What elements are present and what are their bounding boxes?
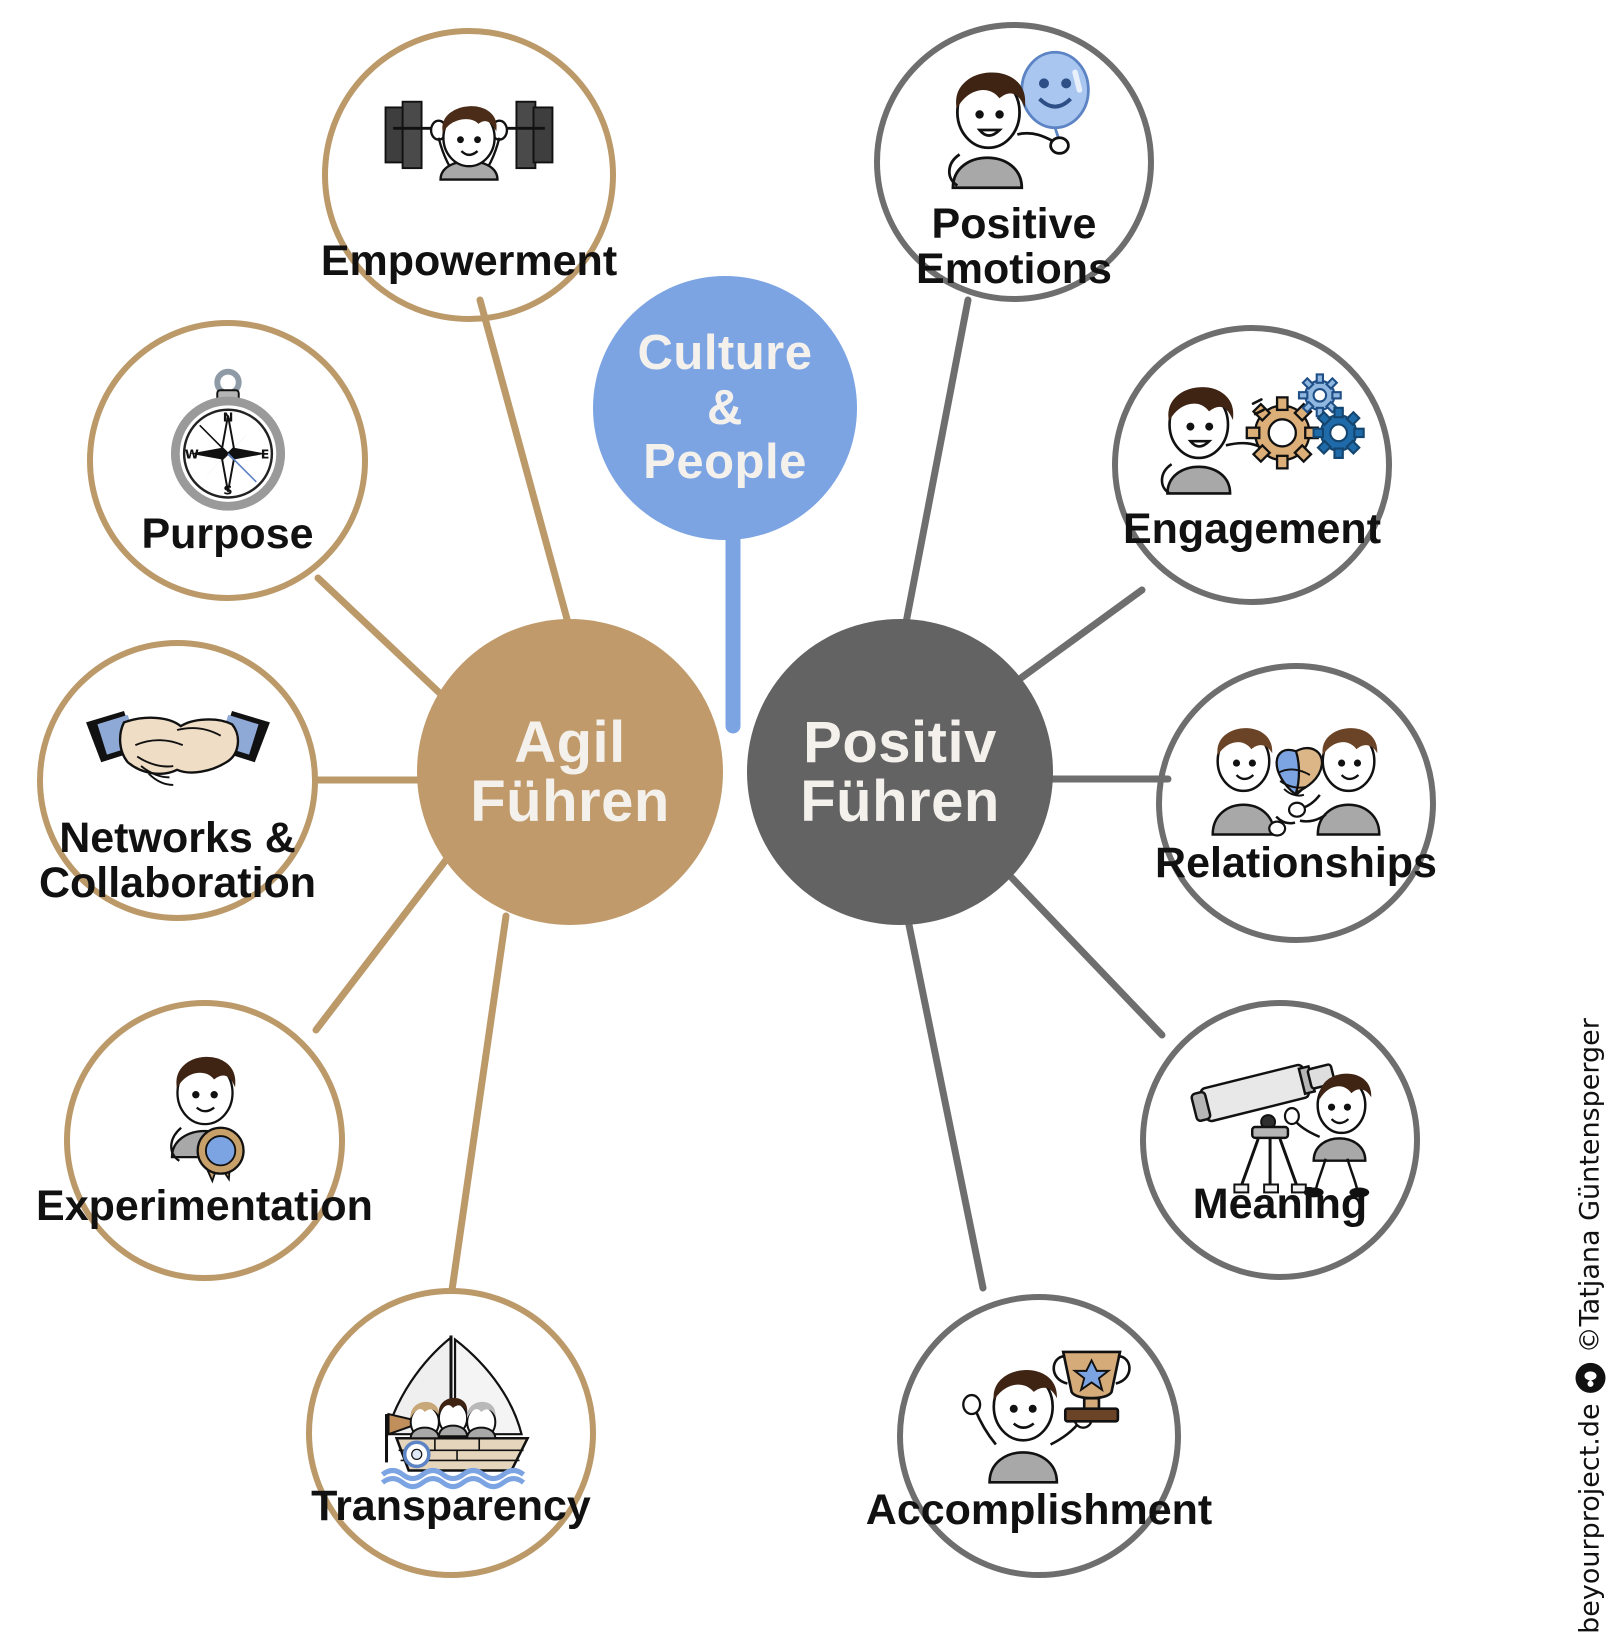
node-networks-collaboration-label: Networks & Collaboration: [39, 816, 316, 905]
watermark: beyourproject.de ©Tatjana Güntensperger: [1570, 1016, 1610, 1636]
person-with-smiley-balloon-icon: [915, 52, 1113, 207]
node-engagement[interactable]: Engagement: [1112, 325, 1392, 605]
connector-experimentation: [316, 860, 446, 1030]
watermark-copyright: ©Tatjana Güntensperger: [1575, 1018, 1606, 1353]
svg-text:W: W: [184, 446, 198, 461]
node-positive-emotions-line2: Emotions: [916, 245, 1112, 293]
person-lifting-barbell-icon: [365, 71, 574, 235]
node-empowerment[interactable]: Empowerment: [322, 28, 616, 322]
node-accomplishment[interactable]: Accomplishment: [897, 1294, 1181, 1578]
connector-accomplishment: [908, 920, 983, 1288]
hub-positiv-fuehren[interactable]: Positiv Führen: [747, 619, 1053, 925]
handshake-icon: [78, 670, 277, 826]
node-positive-emotions-line1: Positive: [932, 200, 1097, 248]
hub-positiv-line2: Führen: [800, 772, 1000, 831]
connector-purpose: [318, 578, 447, 700]
node-experimentation[interactable]: Experimentation: [64, 1000, 345, 1281]
node-purpose[interactable]: N S W E Purpose: [87, 320, 368, 601]
person-with-trophy-icon: [938, 1335, 1139, 1493]
svg-text:E: E: [260, 446, 269, 461]
node-meaning-label: Meaning: [1193, 1182, 1367, 1227]
node-positive-emotions[interactable]: Positive Emotions: [874, 22, 1154, 302]
node-transparency-label: Transparency: [311, 1484, 591, 1529]
person-with-telescope-icon: [1181, 1046, 1379, 1201]
hub-agil-line1: Agil: [470, 713, 670, 772]
node-networks-line2: Collaboration: [39, 859, 316, 907]
compass-icon: N S W E: [128, 361, 327, 517]
node-experimentation-label: Experimentation: [36, 1184, 373, 1229]
node-networks-line1: Networks &: [59, 814, 296, 862]
logo-mark-icon: [1575, 1363, 1605, 1393]
hub-culture-and-people[interactable]: Culture & People: [593, 276, 857, 540]
diagram-canvas: Agil Führen Positiv Führen Culture & Peo…: [0, 0, 1616, 1652]
node-purpose-label: Purpose: [141, 512, 313, 557]
node-engagement-label: Engagement: [1123, 507, 1381, 552]
node-relationships[interactable]: Relationships: [1156, 663, 1436, 943]
connector-meaning: [1012, 878, 1162, 1035]
svg-text:N: N: [222, 409, 233, 424]
sailboat-with-crew-icon: [348, 1327, 554, 1488]
watermark-site: beyourproject.de: [1575, 1403, 1606, 1634]
node-relationships-label: Relationships: [1155, 841, 1437, 886]
connector-empowerment: [480, 300, 570, 630]
hub-culture-line2: &: [638, 381, 813, 436]
node-meaning[interactable]: Meaning: [1140, 1000, 1420, 1280]
node-networks-collaboration[interactable]: Networks & Collaboration: [37, 640, 318, 921]
connector-transparency: [452, 916, 506, 1290]
hub-positiv-line1: Positiv: [800, 713, 1000, 772]
hub-culture-line1: Culture: [638, 326, 813, 381]
two-people-heart-handshake-icon: [1197, 698, 1395, 853]
person-with-award-rosette-icon: [105, 1036, 304, 1192]
person-turning-gears-icon: [1153, 358, 1351, 513]
node-transparency[interactable]: Transparency: [306, 1288, 596, 1578]
svg-text:S: S: [223, 483, 232, 498]
node-positive-emotions-label: Positive Emotions: [916, 202, 1112, 291]
node-empowerment-label: Empowerment: [321, 239, 617, 284]
node-accomplishment-label: Accomplishment: [866, 1488, 1212, 1533]
connector-positive-emotions: [905, 300, 968, 628]
connector-engagement: [1010, 590, 1142, 686]
hub-culture-line3: People: [638, 435, 813, 490]
hub-agil-line2: Führen: [470, 772, 670, 831]
hub-agil-fuehren[interactable]: Agil Führen: [417, 619, 723, 925]
